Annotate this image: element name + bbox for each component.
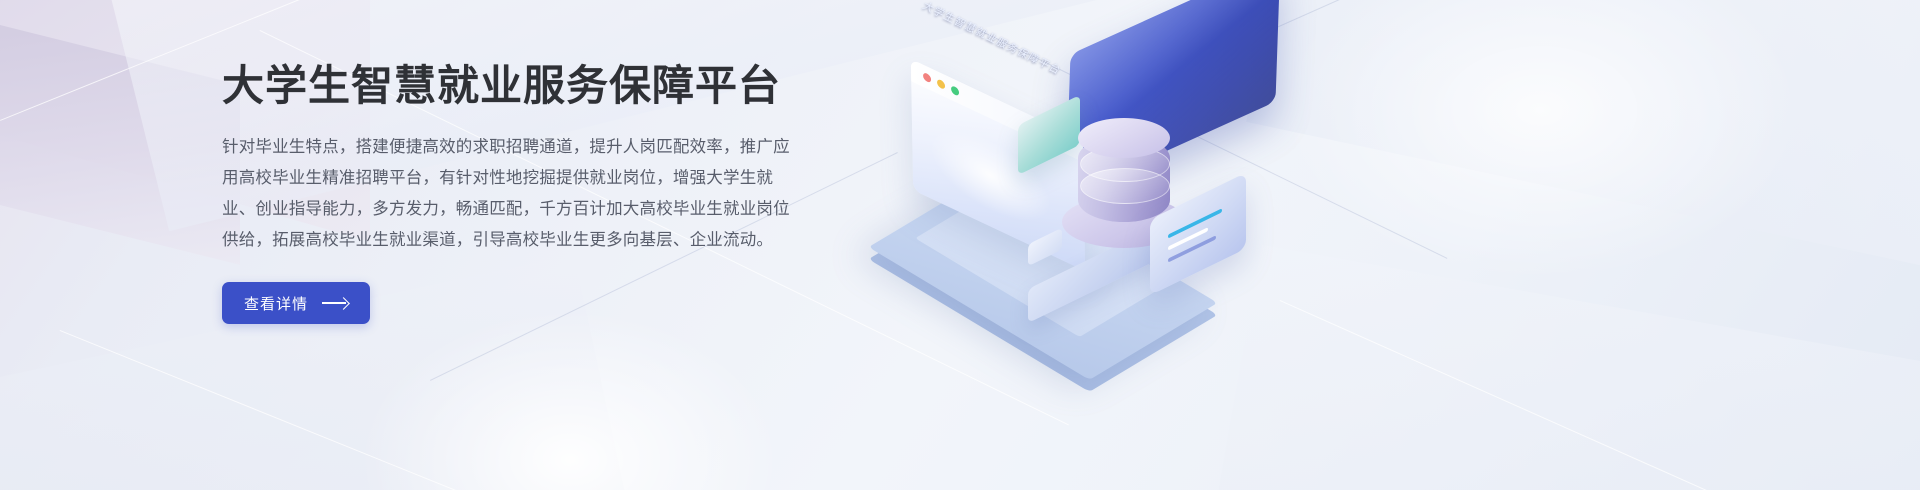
view-details-label: 查看详情 <box>244 293 308 314</box>
description-line: 供给，拓展高校毕业生就业渠道，引导高校毕业生更多向基层、企业流动。 <box>222 225 862 256</box>
cylinder-ring <box>1080 168 1170 204</box>
bg-facet-lavender-2 <box>0 0 240 265</box>
database-cylinder <box>1078 118 1170 228</box>
page-title: 大学生智慧就业服务保障平台 <box>222 62 862 110</box>
description-line: 业、创业指导能力，多方发力，畅通匹配，千方百计加大高校毕业生就业岗位 <box>222 194 862 225</box>
bg-glow-left <box>360 310 780 490</box>
description-line: 用高校毕业生精准招聘平台，有针对性地挖掘提供就业岗位，增强大学生就 <box>222 163 862 194</box>
bg-line <box>60 330 635 490</box>
cylinder-top <box>1078 118 1170 158</box>
window-close-dot-icon <box>923 72 931 84</box>
view-details-button[interactable]: 查看详情 <box>222 282 370 324</box>
banner-description: 针对毕业生特点，搭建便捷高效的求职招聘通道，提升人岗匹配效率，推广应 用高校毕业… <box>222 132 862 256</box>
arrow-right-icon <box>322 297 348 309</box>
chat-line <box>1168 235 1216 262</box>
window-maximize-dot-icon <box>951 85 959 97</box>
banner-content: 大学生智慧就业服务保障平台 针对毕业生特点，搭建便捷高效的求职招聘通道，提升人岗… <box>222 62 862 324</box>
isometric-illustration: 大学生智慧就业服务保障平台 <box>900 0 1380 330</box>
description-line: 针对毕业生特点，搭建便捷高效的求职招聘通道，提升人岗匹配效率，推广应 <box>222 132 862 163</box>
hero-banner: 大学生智慧就业服务保障平台 针对毕业生特点，搭建便捷高效的求职招聘通道，提升人岗… <box>0 0 1920 490</box>
window-minimize-dot-icon <box>937 78 945 90</box>
